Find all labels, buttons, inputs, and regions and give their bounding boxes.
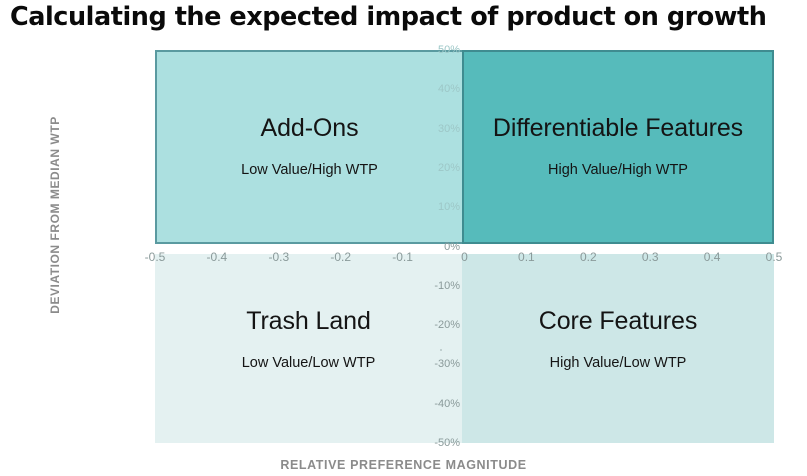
x-tick-label: -0.3 bbox=[254, 250, 304, 264]
x-tick-label: -0.1 bbox=[378, 250, 428, 264]
x-axis-title: RELATIVE PREFERENCE MAGNITUDE bbox=[0, 458, 807, 472]
page-title: Calculating the expected impact of produ… bbox=[10, 2, 790, 32]
x-tick-label: 0.4 bbox=[687, 250, 737, 264]
x-tick-label: -0.2 bbox=[316, 250, 366, 264]
quadrant-core-features-title: Core Features bbox=[462, 307, 774, 336]
y-tick-label: -10% bbox=[414, 280, 460, 292]
y-tick-label: -50% bbox=[414, 437, 460, 449]
y-tick-label: 10% bbox=[414, 201, 460, 213]
quadrant-core-features[interactable]: Core Features High Value/Low WTP bbox=[462, 254, 774, 443]
quadrant-differentiable-features-subtitle: High Value/High WTP bbox=[464, 162, 772, 178]
x-tick-label: 0.1 bbox=[501, 250, 551, 264]
quadrant-core-features-subtitle: High Value/Low WTP bbox=[462, 355, 774, 371]
y-tick-label: 20% bbox=[414, 162, 460, 174]
x-tick-label: 0.5 bbox=[749, 250, 799, 264]
y-tick-label: -40% bbox=[414, 398, 460, 410]
plot-area: Add-Ons Low Value/High WTP Differentiabl… bbox=[155, 50, 774, 443]
axis-speck-artifact bbox=[440, 349, 442, 351]
quadrant-chart: Add-Ons Low Value/High WTP Differentiabl… bbox=[0, 40, 807, 476]
y-tick-label: 40% bbox=[414, 83, 460, 95]
x-tick-label: -0.5 bbox=[130, 250, 180, 264]
x-tick-label: 0.3 bbox=[625, 250, 675, 264]
quadrant-add-ons[interactable]: Add-Ons Low Value/High WTP bbox=[155, 50, 462, 244]
quadrant-differentiable-features[interactable]: Differentiable Features High Value/High … bbox=[462, 50, 774, 244]
x-tick-label: 0.2 bbox=[563, 250, 613, 264]
quadrant-differentiable-features-title: Differentiable Features bbox=[464, 114, 772, 143]
y-tick-label: 30% bbox=[414, 123, 460, 135]
y-tick-label: 50% bbox=[414, 44, 460, 56]
y-tick-label: -20% bbox=[414, 319, 460, 331]
x-tick-label: -0.4 bbox=[192, 250, 242, 264]
y-axis-title: DEVIATION FROM MEDIAN WTP bbox=[48, 100, 62, 330]
y-tick-label: -30% bbox=[414, 358, 460, 370]
x-tick-label: 0 bbox=[440, 250, 490, 264]
